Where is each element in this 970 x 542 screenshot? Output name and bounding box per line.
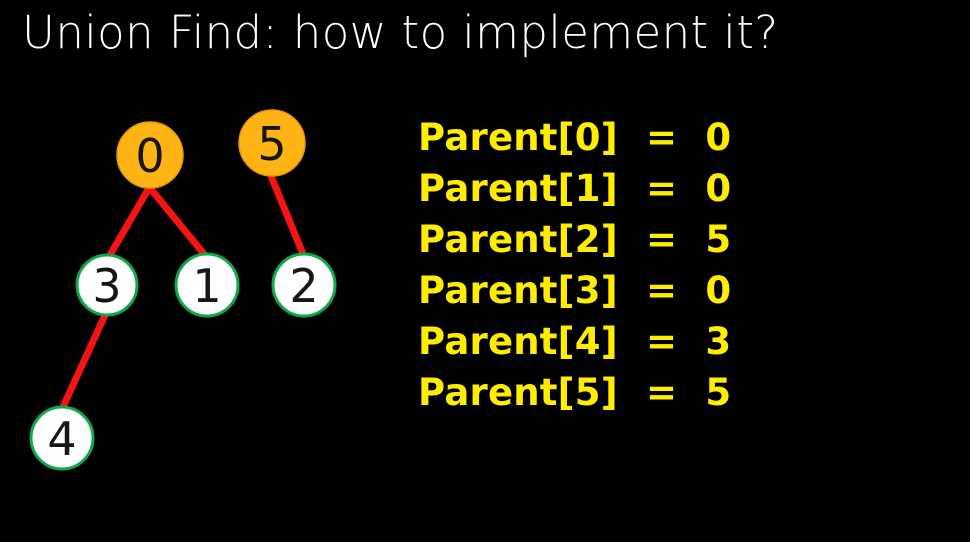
parent-entry-4: Parent[4] = 3 bbox=[418, 316, 878, 367]
parent-value-1: 0 bbox=[705, 167, 731, 210]
parent-value-5: 5 bbox=[705, 371, 731, 414]
parent-index-1: Parent[1] bbox=[418, 167, 618, 210]
equals-sign-0: = bbox=[618, 116, 706, 159]
equals-sign-4: = bbox=[618, 320, 706, 363]
node-circle-4 bbox=[31, 407, 93, 469]
parent-index-3: Parent[3] bbox=[418, 269, 618, 312]
parent-index-2: Parent[2] bbox=[418, 218, 618, 261]
node-circle-0 bbox=[117, 122, 183, 188]
graph-edge-3-4 bbox=[63, 315, 105, 407]
parent-array-list: Parent[0] = 0Parent[1] = 0Parent[2] = 5P… bbox=[418, 112, 878, 418]
parent-value-0: 0 bbox=[705, 116, 731, 159]
parent-value-3: 0 bbox=[705, 269, 731, 312]
graph-node-4[interactable]: 4 bbox=[31, 407, 93, 469]
parent-entry-5: Parent[5] = 5 bbox=[418, 367, 878, 418]
equals-sign-3: = bbox=[618, 269, 706, 312]
node-layer: 053124 bbox=[31, 110, 335, 469]
graph-edge-0-3 bbox=[110, 188, 149, 255]
parent-index-4: Parent[4] bbox=[418, 320, 618, 363]
parent-entry-1: Parent[1] = 0 bbox=[418, 163, 878, 214]
node-circle-1 bbox=[176, 254, 238, 316]
equals-sign-1: = bbox=[618, 167, 706, 210]
slide-canvas: Union Find: how to implement it? 053124 … bbox=[0, 0, 970, 542]
parent-index-0: Parent[0] bbox=[418, 116, 618, 159]
graph-node-2[interactable]: 2 bbox=[273, 254, 335, 316]
graph-edge-0-1 bbox=[150, 188, 204, 254]
parent-entry-2: Parent[2] = 5 bbox=[418, 214, 878, 265]
parent-entry-3: Parent[3] = 0 bbox=[418, 265, 878, 316]
parent-value-4: 3 bbox=[705, 320, 731, 363]
parent-value-2: 5 bbox=[705, 218, 731, 261]
graph-svg: 053124 bbox=[0, 70, 400, 500]
page-title: Union Find: how to implement it? bbox=[22, 5, 779, 61]
graph-node-0[interactable]: 0 bbox=[117, 122, 183, 188]
node-circle-5 bbox=[239, 110, 305, 176]
node-circle-3 bbox=[77, 255, 137, 315]
graph-node-5[interactable]: 5 bbox=[239, 110, 305, 176]
parent-entry-0: Parent[0] = 0 bbox=[418, 112, 878, 163]
parent-index-5: Parent[5] bbox=[418, 371, 618, 414]
graph-node-3[interactable]: 3 bbox=[77, 255, 137, 315]
equals-sign-5: = bbox=[618, 371, 706, 414]
graph-node-1[interactable]: 1 bbox=[176, 254, 238, 316]
union-find-graph: 053124 bbox=[0, 70, 400, 500]
node-circle-2 bbox=[273, 254, 335, 316]
equals-sign-2: = bbox=[618, 218, 706, 261]
graph-edge-5-2 bbox=[271, 176, 303, 254]
